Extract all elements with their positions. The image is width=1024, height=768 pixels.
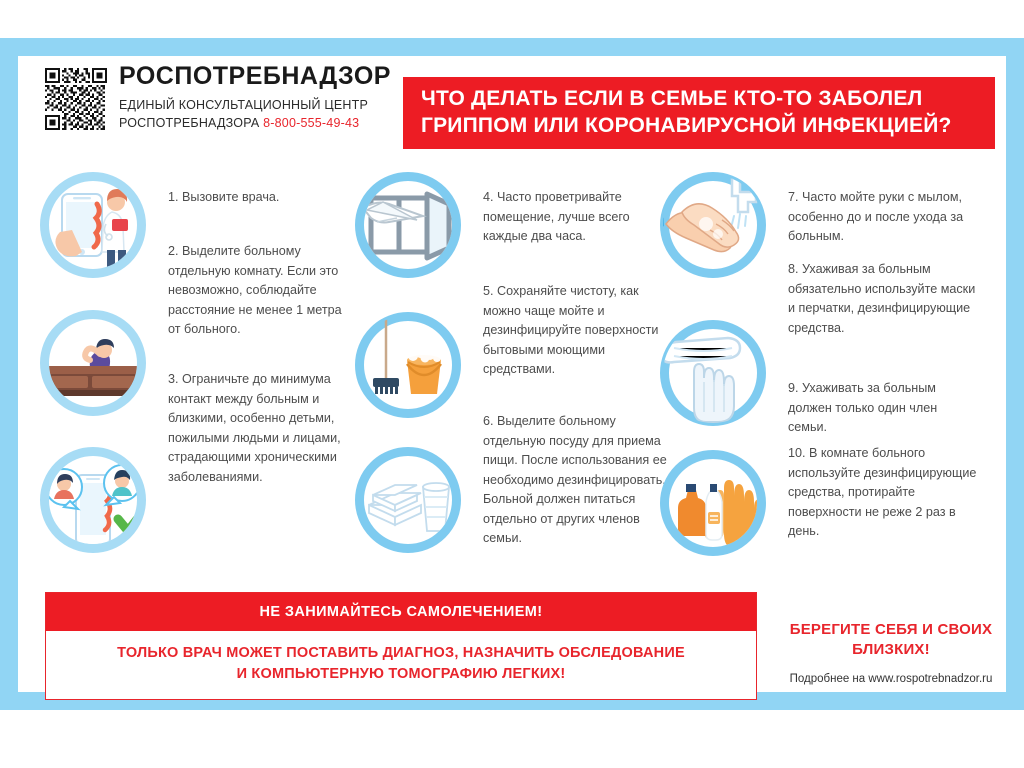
tip-text-7: 7. Часто мойте руки с мылом, особенно до…: [788, 188, 978, 247]
video-call-contact-check-icon: [40, 447, 146, 553]
mask-and-glove-icon: [660, 320, 766, 426]
warning-box: НЕ ЗАНИМАЙТЕСЬ САМОЛЕЧЕНИЕМ! ТОЛЬКО ВРАЧ…: [45, 592, 757, 700]
tip-text-9: 9. Ухаживать за больным должен только од…: [788, 379, 978, 438]
tip-text-6: 6. Выделите больному отдельную посуду дл…: [483, 412, 668, 549]
more-info-link[interactable]: Подробнее на www.rospotrebnadzor.ru: [785, 673, 997, 685]
warning-headline: НЕ ЗАНИМАЙТЕСЬ САМОЛЕЧЕНИЕМ!: [46, 593, 756, 631]
hotline-phone[interactable]: 8-800-555-49-43: [263, 116, 359, 130]
warning-body: ТОЛЬКО ВРАЧ МОЖЕТ ПОСТАВИТЬ ДИАГНОЗ, НАЗ…: [46, 631, 756, 699]
logo-block: РОСПОТРЕБНАДЗОР ЕДИНЫЙ КОНСУЛЬТАЦИОННЫЙ …: [45, 64, 391, 132]
header: РОСПОТРЕБНАДЗОР ЕДИНЫЙ КОНСУЛЬТАЦИОННЫЙ …: [45, 64, 995, 164]
qr-code-icon: [45, 68, 107, 130]
care-line-1: БЕРЕГИТЕ СЕБЯ И СВОИХ: [785, 620, 997, 640]
brand: РОСПОТРЕБНАДЗОР ЕДИНЫЙ КОНСУЛЬТАЦИОННЫЙ …: [119, 64, 391, 132]
brand-name: РОСПОТРЕБНАДЗОР: [119, 64, 391, 89]
tip-text-10: 10. В комнате больного используйте дезин…: [788, 444, 978, 542]
title-line-1: ЧТО ДЕЛАТЬ ЕСЛИ В СЕМЬЕ КТО-ТО ЗАБОЛЕЛ: [421, 86, 995, 113]
cleaning-products-gloves-icon: [660, 450, 766, 556]
tip-text-1: 1. Вызовите врача.: [168, 188, 348, 208]
brand-subtitle-line2: РОСПОТРЕБНАДЗОРА: [119, 116, 259, 130]
disposable-dishes-cups-icon: [355, 447, 461, 553]
poster-root: РОСПОТРЕБНАДЗОР ЕДИНЫЙ КОНСУЛЬТАЦИОННЫЙ …: [0, 0, 1024, 768]
care-block: БЕРЕГИТЕ СЕБЯ И СВОИХ БЛИЗКИХ! Подробнее…: [785, 620, 997, 685]
mop-and-bucket-icon: [355, 312, 461, 418]
care-line-2: БЛИЗКИХ!: [785, 640, 997, 660]
tip-text-3: 3. Ограничьте до минимума контакт между …: [168, 370, 348, 487]
brand-subtitle-line1: ЕДИНЫЙ КОНСУЛЬТАЦИОННЫЙ ЦЕНТР: [119, 96, 391, 114]
warning-body-line2: И КОМПЬЮТЕРНУЮ ТОМОГРАФИЮ ЛЕГКИХ!: [56, 664, 746, 685]
title-banner: ЧТО ДЕЛАТЬ ЕСЛИ В СЕМЬЕ КТО-ТО ЗАБОЛЕЛ Г…: [403, 77, 995, 149]
open-window-airing-icon: [355, 172, 461, 278]
warning-body-line1: ТОЛЬКО ВРАЧ МОЖЕТ ПОСТАВИТЬ ДИАГНОЗ, НАЗ…: [56, 643, 746, 664]
handwashing-tap-icon: [660, 172, 766, 278]
person-resting-on-sofa-icon: [40, 310, 146, 416]
tip-text-2: 2. Выделите больному отдельную комнату. …: [168, 242, 353, 340]
tips-columns: 1. Вызовите врача. 2. Выделите больному …: [40, 172, 995, 582]
tip-text-8: 8. Ухаживая за больным обязательно испол…: [788, 260, 978, 338]
brand-subtitle: ЕДИНЫЙ КОНСУЛЬТАЦИОННЫЙ ЦЕНТР РОСПОТРЕБН…: [119, 96, 391, 132]
bottom-section: НЕ ЗАНИМАЙТЕСЬ САМОЛЕЧЕНИЕМ! ТОЛЬКО ВРАЧ…: [45, 592, 995, 697]
tip-text-5: 5. Сохраняйте чистоту, как можно чаще мо…: [483, 282, 668, 380]
doctor-phone-call-icon: [40, 172, 146, 278]
title-line-2: ГРИППОМ ИЛИ КОРОНАВИРУСНОЙ ИНФЕКЦИЕЙ?: [421, 113, 995, 140]
tip-text-4: 4. Часто проветривайте помещение, лучше …: [483, 188, 668, 247]
brand-subtitle-line2-row: РОСПОТРЕБНАДЗОРА 8-800-555-49-43: [119, 114, 391, 132]
